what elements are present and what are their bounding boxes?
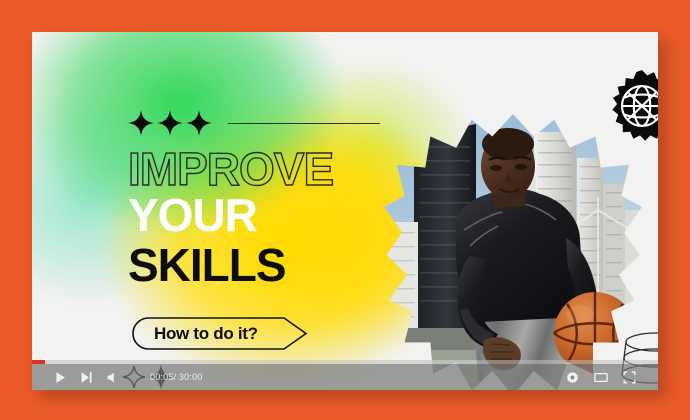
controls-left-group: 00:05/ 30:00 <box>32 371 202 384</box>
how-to-do-it-button[interactable]: How to do it? <box>132 317 308 350</box>
star-icon <box>157 110 183 136</box>
globe-badge-logo <box>606 70 658 142</box>
headline-line-3: SKILLS <box>128 242 458 290</box>
gear-icon[interactable] <box>566 371 579 384</box>
miniplayer-icon[interactable] <box>594 371 608 384</box>
headline-line-1: IMPROVE <box>128 148 458 190</box>
fullscreen-icon[interactable] <box>623 371 636 384</box>
horizontal-rule <box>228 123 380 124</box>
video-card: IMPROVE YOUR SKILLS How to do it? <box>32 32 658 390</box>
star-icon <box>128 110 154 136</box>
play-icon[interactable] <box>54 371 67 384</box>
headline-block: IMPROVE YOUR SKILLS <box>128 148 458 290</box>
controls-right-group <box>566 371 658 384</box>
time-display: 00:05/ 30:00 <box>132 372 202 382</box>
poster-stage: IMPROVE YOUR SKILLS How to do it? <box>0 0 690 420</box>
top-sparkles <box>128 110 212 136</box>
player-controls: 00:05/ 30:00 <box>32 364 658 390</box>
headline-line-2: YOUR <box>128 192 458 240</box>
next-icon[interactable] <box>80 371 93 384</box>
cta-label: How to do it? <box>132 324 258 344</box>
volume-icon[interactable] <box>106 371 119 384</box>
star-icon <box>186 110 212 136</box>
